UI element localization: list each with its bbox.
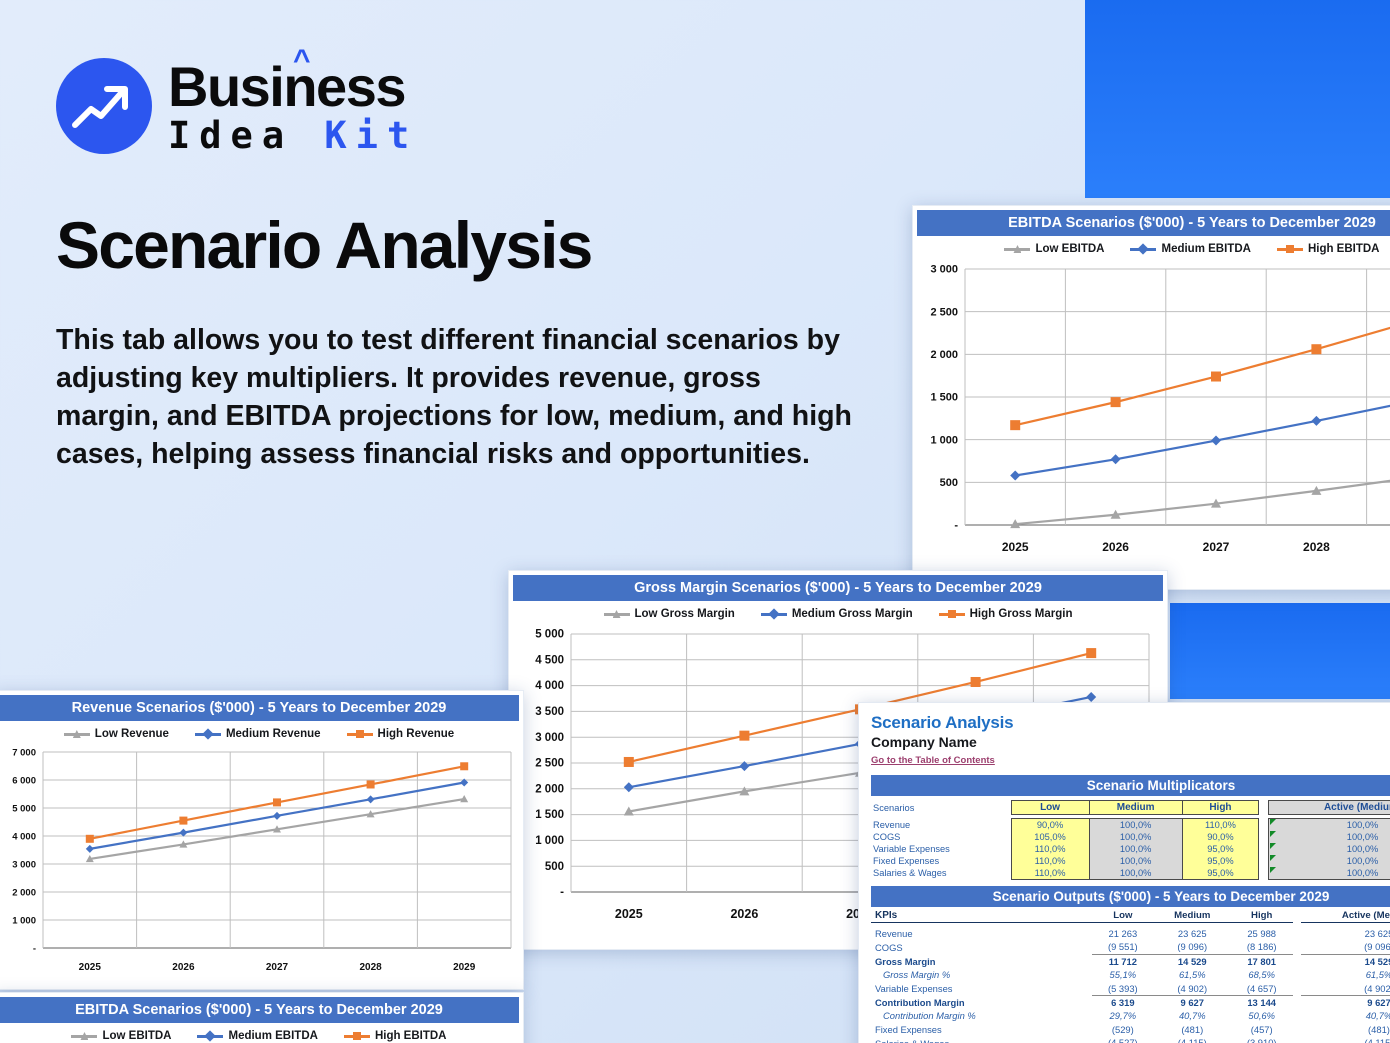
legend-item-low: Low Revenue xyxy=(64,728,169,740)
out-low: (9 551) xyxy=(1092,940,1155,954)
brand-caret-icon: ^ xyxy=(293,46,309,76)
legend-item-medium: Medium EBITDA xyxy=(197,1030,317,1042)
cell-low[interactable]: 110,0% xyxy=(1011,843,1089,855)
legend-item-medium: Medium EBITDA xyxy=(1130,243,1250,255)
out-medium: 23 625 xyxy=(1154,927,1230,940)
chart-title-revenue: Revenue Scenarios ($'000) - 5 Years to D… xyxy=(0,695,519,721)
legend-marker-medium-icon xyxy=(761,613,787,616)
svg-text:6 000: 6 000 xyxy=(12,776,36,787)
legend-label-medium: Medium EBITDA xyxy=(228,1030,317,1042)
column-header-medium[interactable]: Medium xyxy=(1089,801,1182,815)
out-label-contribution-margin-pct: Contribution Margin % xyxy=(871,1009,1092,1022)
svg-text:1 000: 1 000 xyxy=(535,835,564,847)
legend-marker-high-icon xyxy=(939,613,965,616)
legend-item-medium: Medium Gross Margin xyxy=(761,608,913,620)
out-medium: 9 627 xyxy=(1154,995,1230,1009)
table-row: Gross Margin % 55,1% 61,5% 68,5% 61,5% xyxy=(871,968,1390,981)
chart-title-ebitda-bottom: EBITDA Scenarios ($'000) - 5 Years to De… xyxy=(0,997,519,1023)
table-row: Fixed Expenses (529) (481) (457) (481) xyxy=(871,1023,1390,1036)
cell-low[interactable]: 110,0% xyxy=(1011,867,1089,880)
svg-text:2 500: 2 500 xyxy=(930,306,958,318)
brand-name-line1: Business ^ xyxy=(168,59,418,115)
out-high: 50,6% xyxy=(1230,1009,1293,1022)
outputs-col-medium: Medium xyxy=(1154,909,1230,923)
out-label-revenue: Revenue xyxy=(871,927,1092,940)
table-row: Salaries & Wages 110,0% 100,0% 95,0% 100… xyxy=(871,867,1390,880)
out-medium: (9 096) xyxy=(1154,940,1230,954)
outputs-header-row: KPIs Low Medium High Active (Medium) xyxy=(871,909,1390,923)
legend-label-high: High EBITDA xyxy=(1308,243,1380,255)
svg-text:2027: 2027 xyxy=(266,962,289,973)
cell-high[interactable]: 95,0% xyxy=(1182,855,1258,867)
svg-text:5 000: 5 000 xyxy=(12,804,36,815)
scenario-multiplicators-table: Scenarios Low Medium High Active (Medium… xyxy=(871,800,1390,880)
brand-word-business: Business xyxy=(168,55,405,118)
cell-active[interactable]: 100,0% xyxy=(1269,831,1390,843)
legend-label-high: High Gross Margin xyxy=(970,608,1073,620)
out-high: (3 910) xyxy=(1230,1036,1293,1043)
svg-text:-: - xyxy=(954,520,958,532)
out-active: (4 902) xyxy=(1301,981,1390,995)
table-row: Revenue 90,0% 100,0% 110,0% 100,0% xyxy=(871,819,1390,832)
table-row: Revenue 21 263 23 625 25 988 23 625 xyxy=(871,927,1390,940)
svg-text:4 000: 4 000 xyxy=(12,832,36,843)
chart-legend-revenue: Low Revenue Medium Revenue High Revenue xyxy=(0,721,523,744)
svg-text:3 000: 3 000 xyxy=(535,732,564,744)
row-label-fixed-expenses: Fixed Expenses xyxy=(871,855,1011,867)
svg-text:3 500: 3 500 xyxy=(535,706,564,718)
legend-item-low: Low EBITDA xyxy=(1004,243,1104,255)
legend-marker-low-icon xyxy=(604,613,630,616)
outputs-col-active: Active (Medium) xyxy=(1301,909,1390,923)
chart-card-ebitda-top: EBITDA Scenarios ($'000) - 5 Years to De… xyxy=(912,205,1390,590)
outputs-col-low: Low xyxy=(1092,909,1155,923)
legend-label-low: Low Gross Margin xyxy=(635,608,735,620)
out-high: (8 186) xyxy=(1230,940,1293,954)
brand-word-idea: Idea xyxy=(168,114,324,157)
page-description: This tab allows you to test different fi… xyxy=(56,322,856,474)
out-low: 6 319 xyxy=(1092,995,1155,1009)
chart-legend-gross-margin: Low Gross Margin Medium Gross Margin Hig… xyxy=(509,601,1167,624)
out-active: 23 625 xyxy=(1301,927,1390,940)
svg-text:2028: 2028 xyxy=(1303,540,1330,554)
table-of-contents-link[interactable]: Go to the Table of Contents xyxy=(871,755,995,766)
column-header-active[interactable]: Active (Medium) xyxy=(1269,801,1390,815)
svg-text:2026: 2026 xyxy=(1102,540,1129,554)
brand-name-line2: Idea Kit xyxy=(168,117,418,154)
legend-label-low: Low EBITDA xyxy=(102,1030,171,1042)
out-label-variable-expenses: Variable Expenses xyxy=(871,981,1092,995)
scenario-multiplicators-banner: Scenario Multiplicators xyxy=(871,775,1390,796)
chart-card-ebitda-bottom: EBITDA Scenarios ($'000) - 5 Years to De… xyxy=(0,992,524,1043)
out-high: 13 144 xyxy=(1230,995,1293,1009)
svg-text:2026: 2026 xyxy=(172,962,195,973)
out-low: (5 393) xyxy=(1092,981,1155,995)
page-title: Scenario Analysis xyxy=(56,207,592,283)
out-label-fixed-expenses: Fixed Expenses xyxy=(871,1023,1092,1036)
growth-arrow-icon xyxy=(56,58,152,154)
out-high: 25 988 xyxy=(1230,927,1293,940)
cell-high[interactable]: 110,0% xyxy=(1182,819,1258,832)
out-low: (4 527) xyxy=(1092,1036,1155,1043)
cell-high[interactable]: 90,0% xyxy=(1182,831,1258,843)
out-active: (4 115) xyxy=(1301,1036,1390,1043)
out-active: 61,5% xyxy=(1301,968,1390,981)
legend-item-high: High Gross Margin xyxy=(939,608,1073,620)
scenario-outputs-table: KPIs Low Medium High Active (Medium) Rev… xyxy=(871,909,1390,1043)
row-label-variable-expenses: Variable Expenses xyxy=(871,843,1011,855)
svg-text:2027: 2027 xyxy=(1203,540,1230,554)
brand-logo: Business ^ Idea Kit xyxy=(56,58,418,154)
out-label-gross-margin: Gross Margin xyxy=(871,954,1092,968)
svg-text:4 500: 4 500 xyxy=(535,654,564,666)
legend-item-high: High EBITDA xyxy=(344,1030,447,1042)
out-medium: (481) xyxy=(1154,1023,1230,1036)
chart-title-gross-margin: Gross Margin Scenarios ($'000) - 5 Years… xyxy=(513,575,1163,601)
legend-marker-medium-icon xyxy=(195,733,221,736)
svg-text:7 000: 7 000 xyxy=(12,748,36,759)
brand-word-kit: Kit xyxy=(324,114,418,157)
svg-text:-: - xyxy=(33,944,36,955)
out-low: (529) xyxy=(1092,1023,1155,1036)
legend-label-high: High Revenue xyxy=(378,728,455,740)
svg-text:3 000: 3 000 xyxy=(12,860,36,871)
legend-marker-medium-icon xyxy=(197,1035,223,1038)
out-active: 9 627 xyxy=(1301,995,1390,1009)
company-name: Company Name xyxy=(871,734,1390,750)
legend-item-medium: Medium Revenue xyxy=(195,728,321,740)
svg-text:-: - xyxy=(560,887,564,899)
legend-label-medium: Medium Revenue xyxy=(226,728,321,740)
out-high: 68,5% xyxy=(1230,968,1293,981)
kpis-header: KPIs xyxy=(871,909,1092,923)
legend-marker-high-icon xyxy=(1277,248,1303,251)
decorative-blue-panel-top xyxy=(1085,0,1390,198)
legend-label-medium: Medium EBITDA xyxy=(1161,243,1250,255)
cell-medium[interactable]: 100,0% xyxy=(1089,867,1182,880)
chart-title-ebitda-top: EBITDA Scenarios ($'000) - 5 Years to De… xyxy=(917,210,1390,236)
scenario-outputs-banner: Scenario Outputs ($'000) - 5 Years to De… xyxy=(871,886,1390,907)
out-label-gross-margin-pct: Gross Margin % xyxy=(871,968,1092,981)
cell-low[interactable]: 110,0% xyxy=(1011,855,1089,867)
chart-plot-ebitda-top: -5001 0001 5002 0002 5003 00020252026202… xyxy=(913,259,1390,571)
out-label-contribution-margin: Contribution Margin xyxy=(871,995,1092,1009)
cell-low[interactable]: 90,0% xyxy=(1011,819,1089,832)
svg-text:2028: 2028 xyxy=(359,962,382,973)
svg-text:1 000: 1 000 xyxy=(930,434,958,446)
svg-text:2025: 2025 xyxy=(79,962,102,973)
legend-label-low: Low EBITDA xyxy=(1035,243,1104,255)
decorative-blue-panel-middle xyxy=(1170,603,1390,699)
chart-plot-revenue: -1 0002 0003 0004 0005 0006 0007 0002025… xyxy=(0,744,523,982)
cell-medium[interactable]: 100,0% xyxy=(1089,819,1182,832)
out-low: 11 712 xyxy=(1092,954,1155,968)
out-active: 14 529 xyxy=(1301,954,1390,968)
svg-text:2 000: 2 000 xyxy=(930,349,958,361)
outputs-col-high: High xyxy=(1230,909,1293,923)
out-medium: 61,5% xyxy=(1154,968,1230,981)
table-row: Fixed Expenses 110,0% 100,0% 95,0% 100,0… xyxy=(871,855,1390,867)
out-medium: 40,7% xyxy=(1154,1009,1230,1022)
scenarios-label: Scenarios xyxy=(871,801,1011,815)
row-label-revenue: Revenue xyxy=(871,819,1011,832)
scenario-analysis-panel: Scenario Analysis Company Name Go to the… xyxy=(858,702,1390,1043)
table-row: Variable Expenses 110,0% 100,0% 95,0% 10… xyxy=(871,843,1390,855)
table-row: Variable Expenses (5 393) (4 902) (4 657… xyxy=(871,981,1390,995)
legend-item-low: Low EBITDA xyxy=(71,1030,171,1042)
svg-text:1 500: 1 500 xyxy=(930,392,958,404)
cell-medium[interactable]: 100,0% xyxy=(1089,855,1182,867)
svg-text:5 000: 5 000 xyxy=(535,629,564,641)
cell-active[interactable]: 100,0% xyxy=(1269,819,1390,832)
out-high: (457) xyxy=(1230,1023,1293,1036)
out-active: (9 096) xyxy=(1301,940,1390,954)
cell-active[interactable]: 100,0% xyxy=(1269,843,1390,855)
chart-svg-revenue: -1 0002 0003 0004 0005 0006 0007 0002025… xyxy=(0,744,523,982)
svg-text:500: 500 xyxy=(940,477,958,489)
svg-text:2 500: 2 500 xyxy=(535,758,564,770)
chart-legend-ebitda-top: Low EBITDA Medium EBITDA High EBITDA xyxy=(913,236,1390,259)
row-label-salaries-wages: Salaries & Wages xyxy=(871,867,1011,880)
svg-text:4 000: 4 000 xyxy=(535,680,564,692)
table-row: Contribution Margin 6 319 9 627 13 144 9… xyxy=(871,995,1390,1009)
cell-medium[interactable]: 100,0% xyxy=(1089,831,1182,843)
legend-label-medium: Medium Gross Margin xyxy=(792,608,913,620)
legend-marker-low-icon xyxy=(1004,248,1030,251)
legend-marker-high-icon xyxy=(347,733,373,736)
legend-label-high: High EBITDA xyxy=(375,1030,447,1042)
chart-legend-ebitda-bottom: Low EBITDA Medium EBITDA High EBITDA xyxy=(0,1023,523,1043)
out-high: (4 657) xyxy=(1230,981,1293,995)
cell-high[interactable]: 95,0% xyxy=(1182,867,1258,880)
svg-text:2026: 2026 xyxy=(730,907,758,921)
cell-active[interactable]: 100,0% xyxy=(1269,867,1390,880)
svg-text:1 500: 1 500 xyxy=(535,809,564,821)
svg-text:2025: 2025 xyxy=(1002,540,1029,554)
table-row: COGS (9 551) (9 096) (8 186) (9 096) xyxy=(871,940,1390,954)
svg-text:2029: 2029 xyxy=(453,962,476,973)
out-high: 17 801 xyxy=(1230,954,1293,968)
svg-text:1 000: 1 000 xyxy=(12,916,36,927)
column-header-high[interactable]: High xyxy=(1182,801,1258,815)
out-active: 40,7% xyxy=(1301,1009,1390,1022)
table-row: Contribution Margin % 29,7% 40,7% 50,6% … xyxy=(871,1009,1390,1022)
out-label-cogs: COGS xyxy=(871,940,1092,954)
table-header-row: Scenarios Low Medium High Active (Medium… xyxy=(871,801,1390,815)
legend-item-high: High Revenue xyxy=(347,728,455,740)
column-header-low[interactable]: Low xyxy=(1011,801,1089,815)
legend-marker-medium-icon xyxy=(1130,248,1156,251)
svg-text:2 000: 2 000 xyxy=(12,888,36,899)
table-row: Gross Margin 11 712 14 529 17 801 14 529 xyxy=(871,954,1390,968)
legend-marker-low-icon xyxy=(71,1035,97,1038)
out-active: (481) xyxy=(1301,1023,1390,1036)
cell-low[interactable]: 105,0% xyxy=(1011,831,1089,843)
svg-text:3 000: 3 000 xyxy=(930,264,958,276)
svg-text:500: 500 xyxy=(545,861,564,873)
table-row: COGS 105,0% 100,0% 90,0% 100,0% xyxy=(871,831,1390,843)
out-medium: (4 902) xyxy=(1154,981,1230,995)
legend-label-low: Low Revenue xyxy=(95,728,169,740)
cell-active[interactable]: 100,0% xyxy=(1269,855,1390,867)
legend-marker-high-icon xyxy=(344,1035,370,1038)
cell-high[interactable]: 95,0% xyxy=(1182,843,1258,855)
legend-marker-low-icon xyxy=(64,733,90,736)
out-label-salaries-wages: Salaries & Wages xyxy=(871,1036,1092,1043)
out-medium: 14 529 xyxy=(1154,954,1230,968)
cell-medium[interactable]: 100,0% xyxy=(1089,843,1182,855)
out-low: 55,1% xyxy=(1092,968,1155,981)
table-row: Salaries & Wages (4 527) (4 115) (3 910)… xyxy=(871,1036,1390,1043)
legend-item-high: High EBITDA xyxy=(1277,243,1380,255)
out-low: 29,7% xyxy=(1092,1009,1155,1022)
legend-item-low: Low Gross Margin xyxy=(604,608,735,620)
row-label-cogs: COGS xyxy=(871,831,1011,843)
svg-text:2025: 2025 xyxy=(615,907,643,921)
chart-svg-ebitda-top: -5001 0001 5002 0002 5003 00020252026202… xyxy=(913,259,1390,571)
out-low: 21 263 xyxy=(1092,927,1155,940)
out-medium: (4 115) xyxy=(1154,1036,1230,1043)
svg-text:2 000: 2 000 xyxy=(535,783,564,795)
scenario-panel-title: Scenario Analysis xyxy=(871,713,1390,733)
chart-card-revenue: Revenue Scenarios ($'000) - 5 Years to D… xyxy=(0,690,524,990)
